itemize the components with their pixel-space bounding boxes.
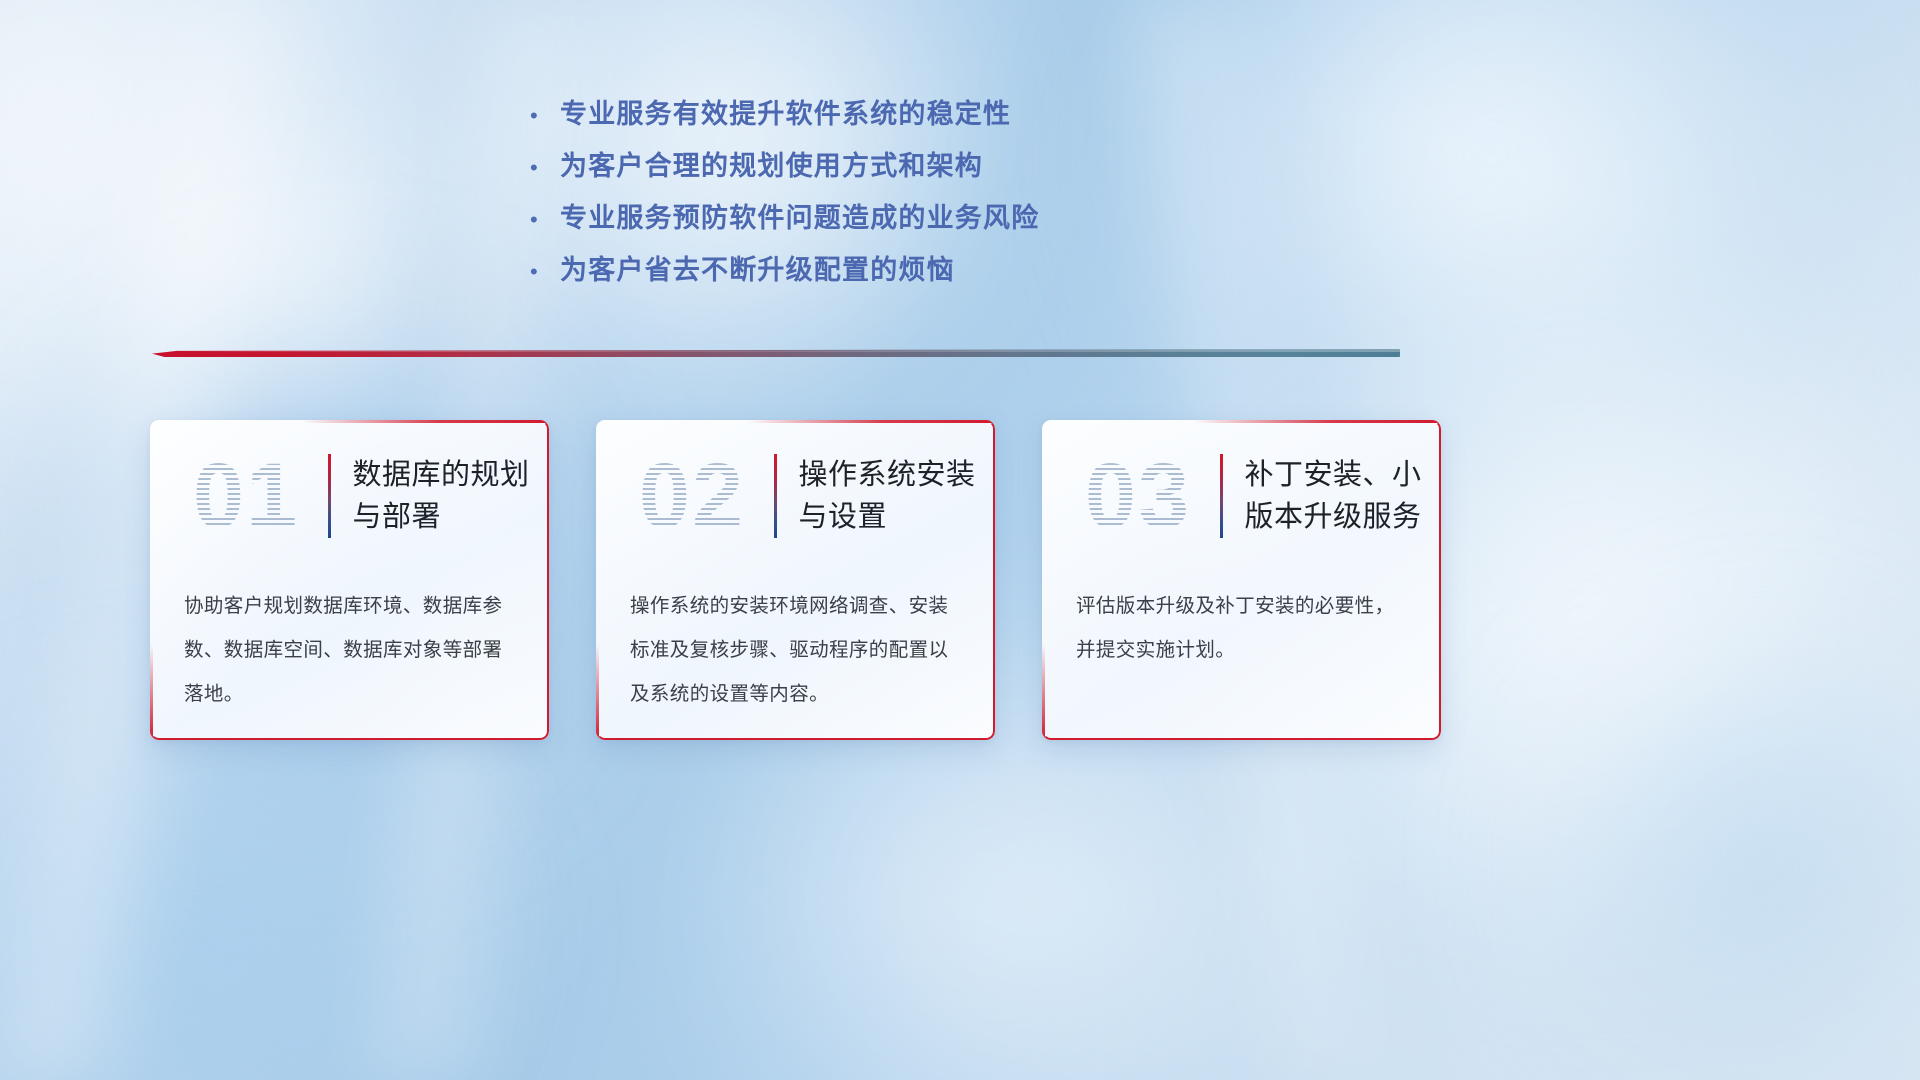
card-separator-bar: [328, 454, 331, 538]
service-card[interactable]: 03 补丁安装、小版本升级服务 评估版本升级及补丁安装的必要性，并提交实施计划。: [1042, 420, 1441, 740]
bullet-dot-icon: •: [530, 246, 560, 298]
card-header: 01 数据库的规划与部署: [150, 420, 549, 572]
benefits-bullet-list: • 专业服务有效提升软件系统的稳定性 • 为客户合理的规划使用方式和架构 • 专…: [530, 88, 1330, 296]
list-item: • 为客户合理的规划使用方式和架构: [530, 140, 1330, 192]
list-item: • 专业服务有效提升软件系统的稳定性: [530, 88, 1330, 140]
card-description: 评估版本升级及补丁安装的必要性，并提交实施计划。: [1042, 572, 1441, 672]
card-title: 数据库的规划与部署: [353, 454, 550, 538]
card-header: 03 补丁安装、小版本升级服务: [1042, 420, 1441, 572]
service-card[interactable]: 02 操作系统安装与设置 操作系统的安装环境网络调查、安装标准及复核步骤、驱动程…: [596, 420, 995, 740]
bullet-text: 专业服务预防软件问题造成的业务风险: [560, 192, 1039, 244]
bullet-dot-icon: •: [530, 142, 560, 194]
list-item: • 为客户省去不断升级配置的烦恼: [530, 244, 1330, 296]
slide-content: • 专业服务有效提升软件系统的稳定性 • 为客户合理的规划使用方式和架构 • 专…: [0, 0, 1920, 1080]
card-separator-bar: [774, 454, 777, 538]
card-number-text: 03: [1085, 438, 1191, 554]
card-number-text: 01: [193, 438, 299, 554]
service-card[interactable]: 01 数据库的规划与部署 协助客户规划数据库环境、数据库参数、数据库空间、数据库…: [150, 420, 549, 740]
list-item: • 专业服务预防软件问题造成的业务风险: [530, 192, 1330, 244]
section-divider: [152, 349, 1400, 357]
card-watermark-number: 03: [1058, 438, 1218, 554]
bullet-dot-icon: •: [530, 194, 560, 246]
card-description: 操作系统的安装环境网络调查、安装标准及复核步骤、驱动程序的配置以及系统的设置等内…: [596, 572, 995, 716]
bullet-text: 为客户省去不断升级配置的烦恼: [560, 244, 955, 296]
card-separator-bar: [1220, 454, 1223, 538]
card-number-text: 02: [639, 438, 745, 554]
service-card-list: 01 数据库的规划与部署 协助客户规划数据库环境、数据库参数、数据库空间、数据库…: [150, 420, 1441, 740]
bullet-text: 为客户合理的规划使用方式和架构: [560, 140, 983, 192]
card-title: 操作系统安装与设置: [799, 454, 996, 538]
card-title: 补丁安装、小版本升级服务: [1245, 454, 1442, 538]
card-watermark-number: 02: [612, 438, 772, 554]
bullet-dot-icon: •: [530, 90, 560, 142]
bullet-text: 专业服务有效提升软件系统的稳定性: [560, 88, 1011, 140]
card-watermark-number: 01: [166, 438, 326, 554]
card-header: 02 操作系统安装与设置: [596, 420, 995, 572]
card-description: 协助客户规划数据库环境、数据库参数、数据库空间、数据库对象等部署落地。: [150, 572, 549, 716]
